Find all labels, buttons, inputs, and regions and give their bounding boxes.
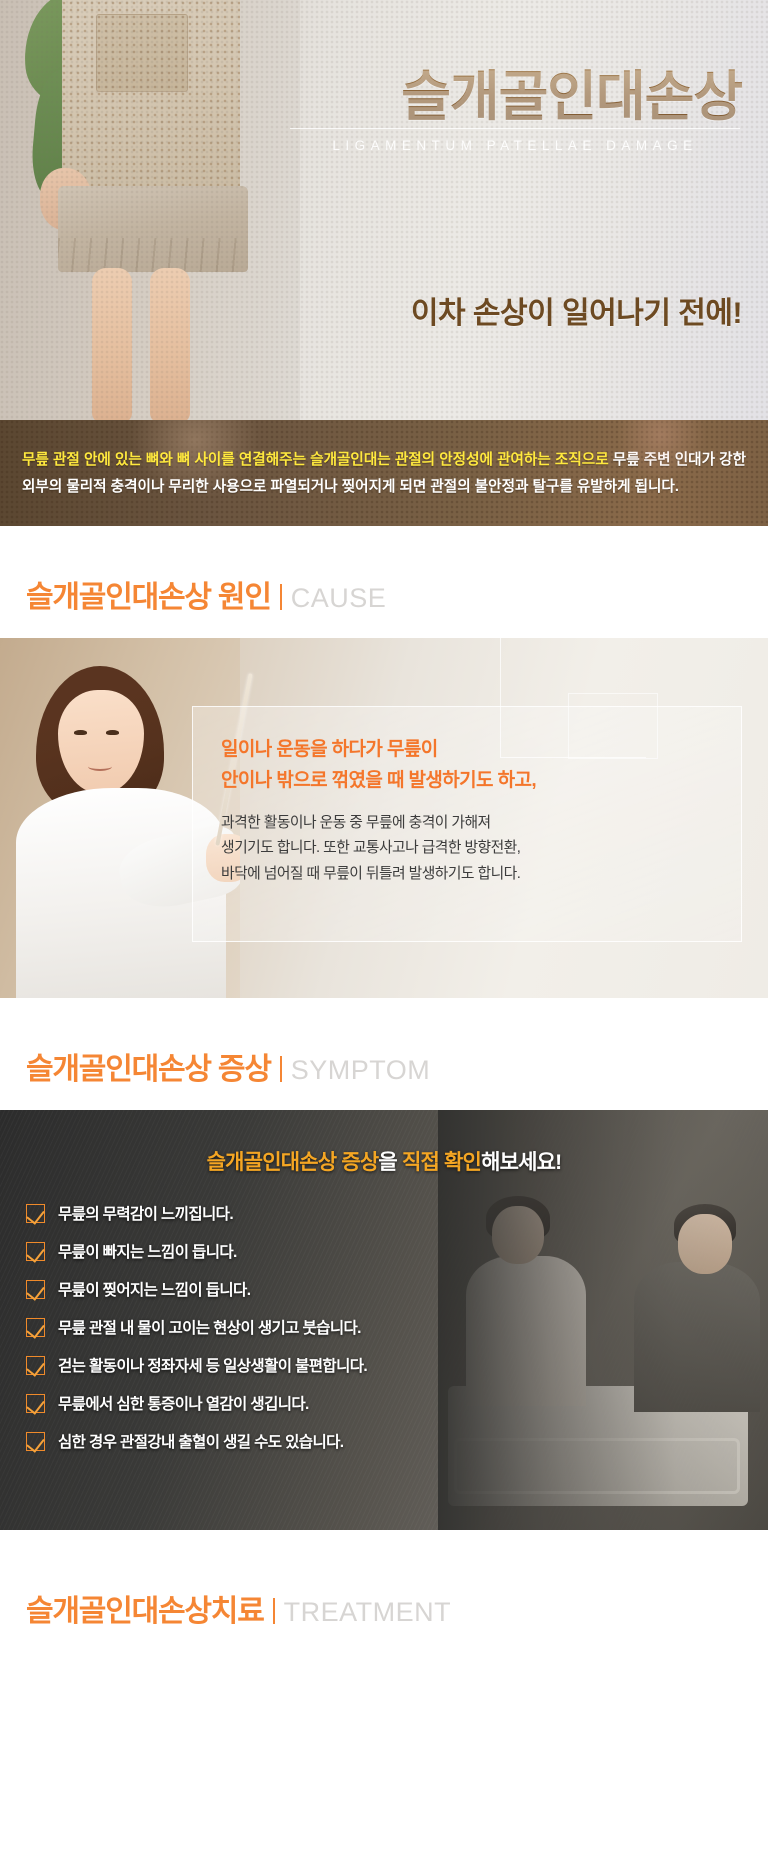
section-divider-bar: [273, 1598, 275, 1624]
section-heading-cause-ko: 슬개골인대손상 원인: [26, 572, 271, 616]
cause-lead-line2: 안이나 밖으로 꺾였을 때 발생하기도 하고,: [221, 766, 741, 797]
cause-lead-line1: 일이나 운동을 하다가 무릎이: [221, 735, 741, 766]
checkbox-checked-icon: [26, 1356, 45, 1375]
list-item: 무릎에서 심한 통증이나 열감이 생깁니다.: [26, 1392, 768, 1414]
checkbox-checked-icon: [26, 1394, 45, 1413]
hero-callout-text: 이차 손상이 일어나기 전에!: [411, 288, 742, 332]
section-heading-symptom-en: SYMPTOM: [291, 1055, 431, 1086]
list-item: 무릎의 무력감이 느끼집니다.: [26, 1202, 768, 1224]
section-heading-treatment-en: TREATMENT: [284, 1597, 452, 1628]
checkbox-checked-icon: [26, 1280, 45, 1299]
cause-body-line2: 생기기도 합니다. 또한 교통사고나 급격한 방향전환,: [221, 836, 741, 861]
symptom-title-part4: 해보세요!: [481, 1151, 561, 1174]
symptom-item-label: 무릎 관절 내 물이 고이는 현상이 생기고 붓습니다.: [58, 1316, 361, 1338]
list-item: 심한 경우 관절강내 출혈이 생길 수도 있습니다.: [26, 1430, 768, 1452]
cause-panel: 일이나 운동을 하다가 무릎이 안이나 밖으로 꺾였을 때 발생하기도 하고, …: [0, 638, 768, 998]
doctor-right-eye: [106, 730, 119, 735]
intro-line2-highlight: 조직으로: [555, 452, 609, 468]
hero-banner: 슬개골인대손상 LIGAMENTUM PATELLAE DAMAGE 이차 손상…: [0, 0, 768, 420]
checkbox-checked-icon: [26, 1318, 45, 1337]
section-heading-cause: 슬개골인대손상 원인 CAUSE: [0, 526, 768, 638]
section-heading-treatment-ko: 슬개골인대손상치료: [26, 1586, 264, 1630]
section-divider-bar: [280, 584, 282, 610]
symptom-panel: 슬개골인대손상 증상을 직접 확인해보세요! 무릎의 무력감이 느끼집니다. 무…: [0, 1110, 768, 1530]
page-subtitle-latin: LIGAMENTUM PATELLAE DAMAGE: [290, 128, 740, 153]
symptom-title-part1: 슬개골인대손상 증상: [207, 1151, 379, 1174]
list-item: 무릎이 빠지는 느낌이 듭니다.: [26, 1240, 768, 1262]
hero-model-photo: [0, 0, 300, 420]
symptom-item-label: 무릎이 빠지는 느낌이 듭니다.: [58, 1240, 237, 1262]
section-heading-treatment: 슬개골인대손상치료 TREATMENT: [0, 1530, 768, 1664]
symptom-item-label: 무릎에서 심한 통증이나 열감이 생깁니다.: [58, 1392, 309, 1414]
doctor-left-eye: [74, 730, 87, 735]
symptom-item-label: 걷는 활동이나 정좌자세 등 일상생활이 불편합니다.: [58, 1354, 367, 1376]
symptom-checklist-title: 슬개골인대손상 증상을 직접 확인해보세요!: [0, 1146, 768, 1176]
symptom-title-part2: 을: [378, 1151, 402, 1174]
symptom-item-label: 심한 경우 관절강내 출혈이 생길 수도 있습니다.: [58, 1430, 344, 1452]
checkbox-checked-icon: [26, 1204, 45, 1223]
checkbox-checked-icon: [26, 1432, 45, 1451]
list-item: 무릎 관절 내 물이 고이는 현상이 생기고 붓습니다.: [26, 1316, 768, 1338]
intro-banner: 무릎 관절 안에 있는 뼈와 뼈 사이를 연결해주는 슬개골인대는 관절의 안정…: [0, 420, 768, 526]
section-heading-cause-en: CAUSE: [291, 583, 387, 614]
checkbox-checked-icon: [26, 1242, 45, 1261]
section-heading-symptom: 슬개골인대손상 증상 SYMPTOM: [0, 998, 768, 1110]
infographic-page: 슬개골인대손상 LIGAMENTUM PATELLAE DAMAGE 이차 손상…: [0, 0, 768, 1664]
symptom-item-label: 무릎의 무력감이 느끼집니다.: [58, 1202, 233, 1224]
cause-body-line3: 바닥에 넘어질 때 무릎이 뒤틀려 발생하기도 합니다.: [221, 862, 741, 887]
list-item: 걷는 활동이나 정좌자세 등 일상생활이 불편합니다.: [26, 1354, 768, 1376]
cause-text-box: 일이나 운동을 하다가 무릎이 안이나 밖으로 꺾였을 때 발생하기도 하고, …: [192, 706, 742, 942]
model-right-leg: [150, 268, 190, 420]
intro-line3: 찢어지게 되면 관절의 불안정과 탈구를 유발하게 됩니다.: [342, 479, 679, 495]
model-apron-pocket: [96, 14, 188, 92]
section-heading-symptom-ko: 슬개골인대손상 증상: [26, 1044, 271, 1088]
intro-line1: 무릎 관절 안에 있는 뼈와 뼈 사이를 연결해주는 슬개골인대는 관절의 안정…: [22, 452, 551, 468]
cause-body-line1: 과격한 활동이나 운동 중 무릎에 충격이 가해져: [221, 811, 741, 836]
list-item: 무릎이 찢어지는 느낌이 듭니다.: [26, 1278, 768, 1300]
intro-paragraph: 무릎 관절 안에 있는 뼈와 뼈 사이를 연결해주는 슬개골인대는 관절의 안정…: [22, 447, 746, 500]
page-title: 슬개골인대손상: [401, 52, 742, 131]
symptom-checklist: 무릎의 무력감이 느끼집니다. 무릎이 빠지는 느낌이 듭니다. 무릎이 찢어지…: [0, 1202, 768, 1452]
model-skirt: [58, 186, 248, 272]
model-left-leg: [92, 268, 132, 420]
section-divider-bar: [280, 1056, 282, 1082]
symptom-item-label: 무릎이 찢어지는 느낌이 듭니다.: [58, 1278, 250, 1300]
symptom-title-part3: 직접 확인: [402, 1151, 481, 1174]
